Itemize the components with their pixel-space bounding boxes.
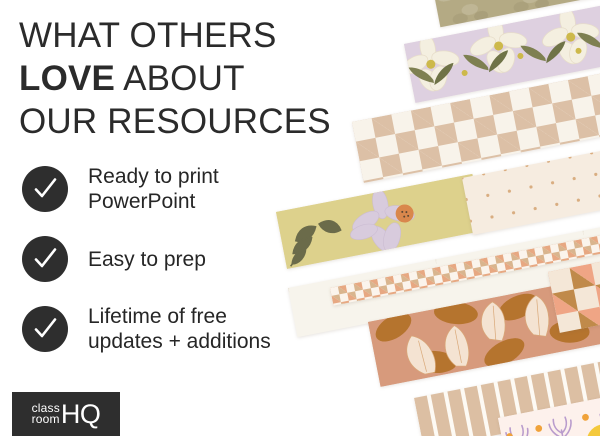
brand-logo-mark: HQ (61, 402, 101, 427)
page-title: WHAT OTHERS LOVE ABOUT OUR RESOURCES (19, 14, 349, 143)
headline-line-2: LOVE ABOUT (19, 57, 349, 100)
list-item: Easy to prep (22, 236, 322, 282)
headline-emphasis: LOVE (19, 59, 115, 98)
feature-label-1: Ready to print PowerPoint (88, 164, 219, 214)
feature-label-3: Lifetime of free updates + additions (88, 304, 271, 354)
brand-logo-inner: class room HQ (32, 402, 101, 427)
check-circle-icon (22, 306, 68, 352)
list-item: Lifetime of free updates + additions (22, 304, 322, 354)
list-item: Ready to print PowerPoint (22, 164, 322, 214)
feature-list: Ready to print PowerPoint Easy to prep L… (22, 164, 322, 376)
brand-logo-wordmark: class room (32, 403, 60, 425)
brand-logo: class room HQ (12, 392, 120, 436)
check-circle-icon (22, 166, 68, 212)
check-circle-icon (22, 236, 68, 282)
feature-label-2: Easy to prep (88, 247, 206, 272)
headline-line-2-rest: ABOUT (115, 59, 245, 98)
brand-logo-line-2: room (32, 414, 60, 425)
headline-line-3: OUR RESOURCES (19, 100, 349, 143)
promo-graphic: WHAT OTHERS LOVE ABOUT OUR RESOURCES Rea… (0, 0, 600, 436)
headline-line-1: WHAT OTHERS (19, 14, 349, 57)
